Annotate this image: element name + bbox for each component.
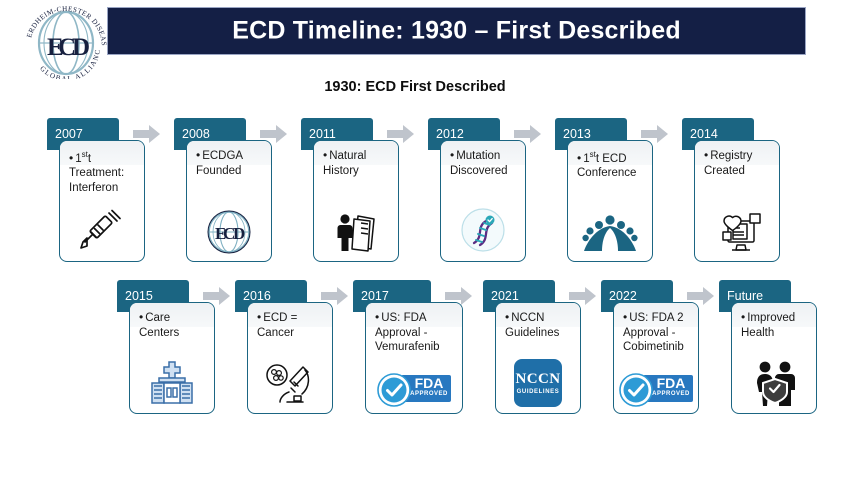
- bullet-glyph: •: [505, 310, 509, 324]
- ordinal-suffix: st: [590, 150, 596, 159]
- timeline-card-2014[interactable]: •RegistryCreated: [694, 140, 780, 262]
- nccn-sub-label: GUIDELINES: [517, 389, 560, 395]
- card-text-2007: •1sttTreatment:Interferon: [60, 141, 144, 195]
- fda-badge-sub-label: APPROVED: [408, 391, 450, 397]
- card-text-2011: •NaturalHistory: [314, 141, 398, 178]
- timeline-row-2: 2015•CareCenters 2016•ECD =Cancer: [0, 280, 855, 430]
- bullet-glyph: •: [704, 148, 708, 162]
- bullet-glyph: •: [323, 148, 327, 162]
- bullet-glyph: •: [577, 151, 581, 165]
- svg-text:D: D: [233, 224, 245, 243]
- nccn-guidelines-logo-icon: NCCN GUIDELINES: [514, 359, 562, 407]
- bullet-glyph: •: [450, 148, 454, 162]
- card-text-2021: •NCCNGuidelines: [496, 303, 580, 340]
- slide-header-banner: ECD Timeline: 1930 – First Described: [107, 7, 806, 55]
- person-with-documents-icon-svg: [330, 209, 382, 255]
- timeline-card-2007[interactable]: •1sttTreatment:Interferon: [59, 140, 145, 262]
- card-text-2015: •CareCenters: [130, 303, 214, 340]
- bullet-glyph: •: [139, 310, 143, 324]
- microscope-icon-svg: [263, 361, 317, 407]
- fda-approved-badge-icon: FDA APPROVED: [619, 373, 693, 407]
- two-people-with-shield-icon: [732, 359, 816, 407]
- page-title: ECD Timeline: 1930 – First Described: [108, 17, 805, 46]
- bullet-glyph: •: [69, 151, 73, 165]
- card-text-2008: •ECDGAFounded: [187, 141, 271, 178]
- fda-badge-sub-label: APPROVED: [650, 391, 692, 397]
- bullet-glyph: •: [375, 310, 379, 324]
- timeline-card-2021[interactable]: •NCCNGuidelines NCCN GUIDELINES: [495, 302, 581, 414]
- timeline-card-2012[interactable]: •MutationDiscovered: [440, 140, 526, 262]
- card-text-2012: •MutationDiscovered: [441, 141, 525, 178]
- group-of-people-icon-svg: [582, 213, 638, 255]
- timeline-card-2017[interactable]: •US: FDAApproval -Vemurafenib FDA APPROV…: [365, 302, 463, 414]
- timeline-card-2008[interactable]: •ECDGAFounded ECD: [186, 140, 272, 262]
- fda-approved-badge-icon: FDA APPROVED: [377, 373, 451, 407]
- card-text-2013: •1stt ECDConference: [568, 141, 652, 181]
- timeline-card-2016[interactable]: •ECD =Cancer: [247, 302, 333, 414]
- bullet-glyph: •: [196, 148, 200, 162]
- group-of-people-icon: [568, 213, 652, 255]
- person-with-documents-icon: [314, 209, 398, 255]
- ecdga-globe-logo-icon-svg: ECD: [206, 209, 252, 255]
- timeline-row-1: 2007•1sttTreatment:Interferon 2008•ECDGA…: [0, 118, 855, 268]
- two-people-with-shield-icon-svg: [746, 359, 802, 407]
- fda-badge-main-label: FDA: [408, 375, 450, 392]
- card-text-2016: •ECD =Cancer: [248, 303, 332, 340]
- brand-logo: E C D ERDHEIM-CHESTER DISEASE GLOBAL ALL…: [20, 5, 112, 79]
- nccn-main-label: NCCN: [516, 371, 561, 387]
- card-text-2017: •US: FDAApproval -Vemurafenib: [366, 303, 462, 355]
- fda-approved-badge-icon: FDA APPROVED: [614, 373, 698, 407]
- hospital-icon-svg: [147, 359, 197, 407]
- syringe-icon: [60, 207, 144, 255]
- svg-text:D: D: [72, 34, 90, 61]
- card-text-2014: •RegistryCreated: [695, 141, 779, 178]
- bullet-glyph: •: [257, 310, 261, 324]
- timeline-card-2013[interactable]: •1stt ECDConference: [567, 140, 653, 262]
- bullet-glyph: •: [623, 310, 627, 324]
- timeline-card-2015[interactable]: •CareCenters: [129, 302, 215, 414]
- microscope-icon: [248, 361, 332, 407]
- computer-registry-icon: [695, 209, 779, 255]
- hospital-icon: [130, 359, 214, 407]
- timeline-card-2022[interactable]: •US: FDA 2Approval -Cobimetinib FDA APPR…: [613, 302, 699, 414]
- ecdga-globe-logo-icon: ECD: [187, 209, 271, 255]
- timeline-card-2011[interactable]: •NaturalHistory: [313, 140, 399, 262]
- dna-helix-icon: [441, 205, 525, 255]
- bullet-glyph: •: [741, 310, 745, 324]
- slide-subtitle: 1930: ECD First Described: [0, 79, 830, 95]
- fda-approved-badge-icon: FDA APPROVED: [366, 373, 462, 407]
- nccn-guidelines-logo-icon: NCCN GUIDELINES: [496, 359, 580, 407]
- dna-helix-icon-svg: [458, 205, 508, 255]
- syringe-icon-svg: [78, 207, 126, 255]
- timeline-card-future[interactable]: •ImprovedHealth: [731, 302, 817, 414]
- ordinal-suffix: st: [82, 150, 88, 159]
- card-text-2022: •US: FDA 2Approval -Cobimetinib: [614, 303, 698, 355]
- card-text-future: •ImprovedHealth: [732, 303, 816, 340]
- fda-badge-main-label: FDA: [650, 375, 692, 392]
- computer-registry-icon-svg: [710, 209, 764, 255]
